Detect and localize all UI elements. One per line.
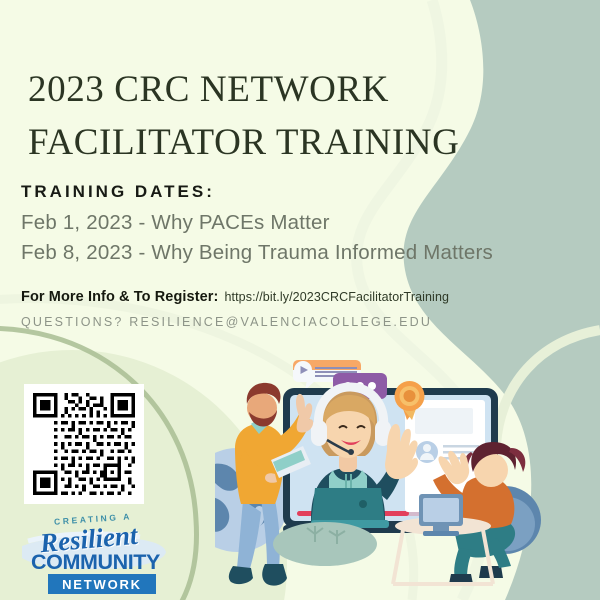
headline-line-1: 2023 CRC NETWORK xyxy=(28,69,389,110)
headline-line-2: FACILITATOR TRAINING xyxy=(28,116,548,170)
register-label: For More Info & To Register: xyxy=(21,289,218,305)
training-dates-label: TRAINING DATES: xyxy=(21,182,215,202)
avatar-icon xyxy=(416,441,438,463)
crc-network-logo: CREATING A Resilient COMMUNITY NETWORK xyxy=(18,512,168,594)
training-date-item-2: Feb 8, 2023 - Why Being Trauma Informed … xyxy=(21,241,493,265)
bush-decoration xyxy=(273,522,377,566)
qr-code-card[interactable] xyxy=(24,384,144,504)
training-date-item-1: Feb 1, 2023 - Why PACEs Matter xyxy=(21,211,330,235)
register-url-link[interactable]: https://bit.ly/2023CRCFacilitatorTrainin… xyxy=(224,290,449,304)
questions-email-text[interactable]: QUESTIONS? RESILIENCE@VALENCIACOLLEGE.ED… xyxy=(21,315,432,329)
qr-code-icon[interactable] xyxy=(33,393,135,495)
logo-network-banner: NETWORK xyxy=(48,574,156,594)
logo-network-text: NETWORK xyxy=(48,577,156,592)
register-row: For More Info & To Register:https://bit.… xyxy=(21,288,449,306)
page-title: 2023 CRC NETWORK FACILITATOR TRAINING xyxy=(28,63,548,170)
webinar-illustration xyxy=(215,348,600,600)
logo-community-text: COMMUNITY xyxy=(31,550,160,575)
poster-canvas: 2023 CRC NETWORK FACILITATOR TRAINING TR… xyxy=(0,0,600,600)
